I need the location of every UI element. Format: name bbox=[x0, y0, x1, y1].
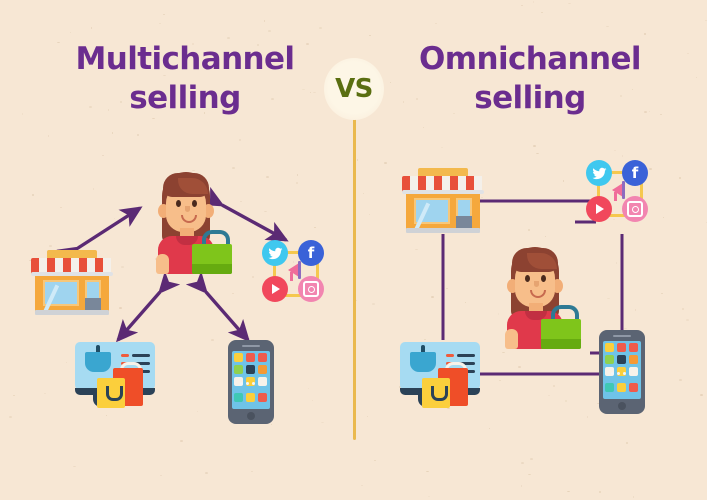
mobile-phone-icon bbox=[228, 340, 274, 424]
camera-square bbox=[303, 281, 319, 297]
store-window-large bbox=[43, 280, 79, 306]
left-customer-node[interactable] bbox=[140, 168, 232, 274]
store-door bbox=[456, 216, 472, 228]
right-social-media-node[interactable]: f bbox=[586, 160, 648, 222]
vs-badge: VS bbox=[324, 58, 384, 120]
left-retail-store-node[interactable] bbox=[31, 250, 113, 318]
home-button[interactable] bbox=[618, 402, 626, 410]
phone-speaker bbox=[613, 335, 631, 337]
arm-left bbox=[156, 254, 169, 274]
facebook-glyph: f bbox=[632, 164, 639, 182]
page-dots bbox=[240, 382, 256, 385]
left-online-store-node[interactable] bbox=[75, 340, 161, 412]
eye-left bbox=[176, 200, 181, 207]
right-mobile-app-node[interactable] bbox=[599, 330, 645, 414]
yellow-bag-handle bbox=[431, 386, 448, 401]
storefront-icon bbox=[31, 250, 113, 318]
store-base bbox=[406, 228, 480, 233]
store-window-large bbox=[414, 198, 450, 224]
vs-label: VS bbox=[335, 74, 373, 104]
right-online-store-node[interactable] bbox=[400, 340, 486, 412]
vertical-divider bbox=[353, 80, 356, 440]
home-button[interactable] bbox=[247, 412, 255, 420]
eye-left bbox=[525, 275, 530, 282]
eye-right bbox=[541, 275, 546, 282]
play-triangle bbox=[596, 204, 604, 214]
title-line-2: selling bbox=[380, 79, 680, 118]
infographic-canvas: VS Multichannel selling Omnichannel sell… bbox=[0, 0, 707, 500]
page-dots bbox=[611, 372, 627, 375]
megaphone-handle bbox=[290, 272, 293, 281]
shopping-bag-shade bbox=[192, 264, 232, 274]
yellow-bag-handle bbox=[106, 386, 123, 401]
arrow-customer-to-mobile bbox=[206, 292, 248, 340]
shopping-basket-icon bbox=[410, 352, 436, 372]
title-line-1: Multichannel bbox=[40, 40, 330, 79]
online-store-icon bbox=[400, 340, 486, 412]
store-door bbox=[85, 298, 101, 310]
arrow-store-to-customer bbox=[78, 208, 140, 248]
right-customer-node[interactable] bbox=[489, 243, 581, 349]
megaphone-icon bbox=[608, 181, 626, 201]
nose bbox=[185, 206, 190, 212]
nose bbox=[534, 281, 539, 287]
awning-lip bbox=[402, 190, 484, 194]
text-line bbox=[446, 354, 454, 357]
phone-speaker bbox=[242, 345, 260, 347]
megaphone-bar bbox=[298, 261, 301, 279]
megaphone-handle bbox=[614, 192, 617, 201]
store-base bbox=[35, 310, 109, 315]
facebook-glyph: f bbox=[308, 244, 315, 262]
megaphone-icon bbox=[284, 261, 302, 281]
page-title-multichannel: Multichannel selling bbox=[40, 40, 330, 118]
online-store-icon bbox=[75, 340, 161, 412]
arrow-customer-to-online-store bbox=[118, 292, 160, 340]
customer-avatar bbox=[140, 168, 232, 274]
left-social-media-node[interactable]: f bbox=[262, 240, 324, 302]
eye-right bbox=[192, 200, 197, 207]
play-triangle bbox=[272, 284, 280, 294]
left-mobile-app-node[interactable] bbox=[228, 340, 274, 424]
text-line bbox=[132, 354, 150, 357]
awning-lip bbox=[31, 272, 113, 276]
shopping-bag-shade bbox=[541, 339, 581, 349]
customer-avatar bbox=[489, 243, 581, 349]
title-line-1: Omnichannel bbox=[380, 40, 680, 79]
camera-square bbox=[627, 201, 643, 217]
app-grid bbox=[605, 343, 639, 397]
right-retail-store-node[interactable] bbox=[402, 168, 484, 236]
title-line-2: selling bbox=[40, 79, 330, 118]
storefront-icon bbox=[402, 168, 484, 236]
megaphone-bar bbox=[622, 181, 625, 199]
text-line bbox=[121, 354, 129, 357]
arm-left bbox=[505, 329, 518, 349]
app-grid bbox=[234, 353, 268, 407]
shopping-basket-icon bbox=[85, 352, 111, 372]
mobile-phone-icon bbox=[599, 330, 645, 414]
page-title-omnichannel: Omnichannel selling bbox=[380, 40, 680, 118]
social-media-icon: f bbox=[262, 240, 324, 302]
text-line bbox=[457, 354, 475, 357]
social-media-icon: f bbox=[586, 160, 648, 222]
